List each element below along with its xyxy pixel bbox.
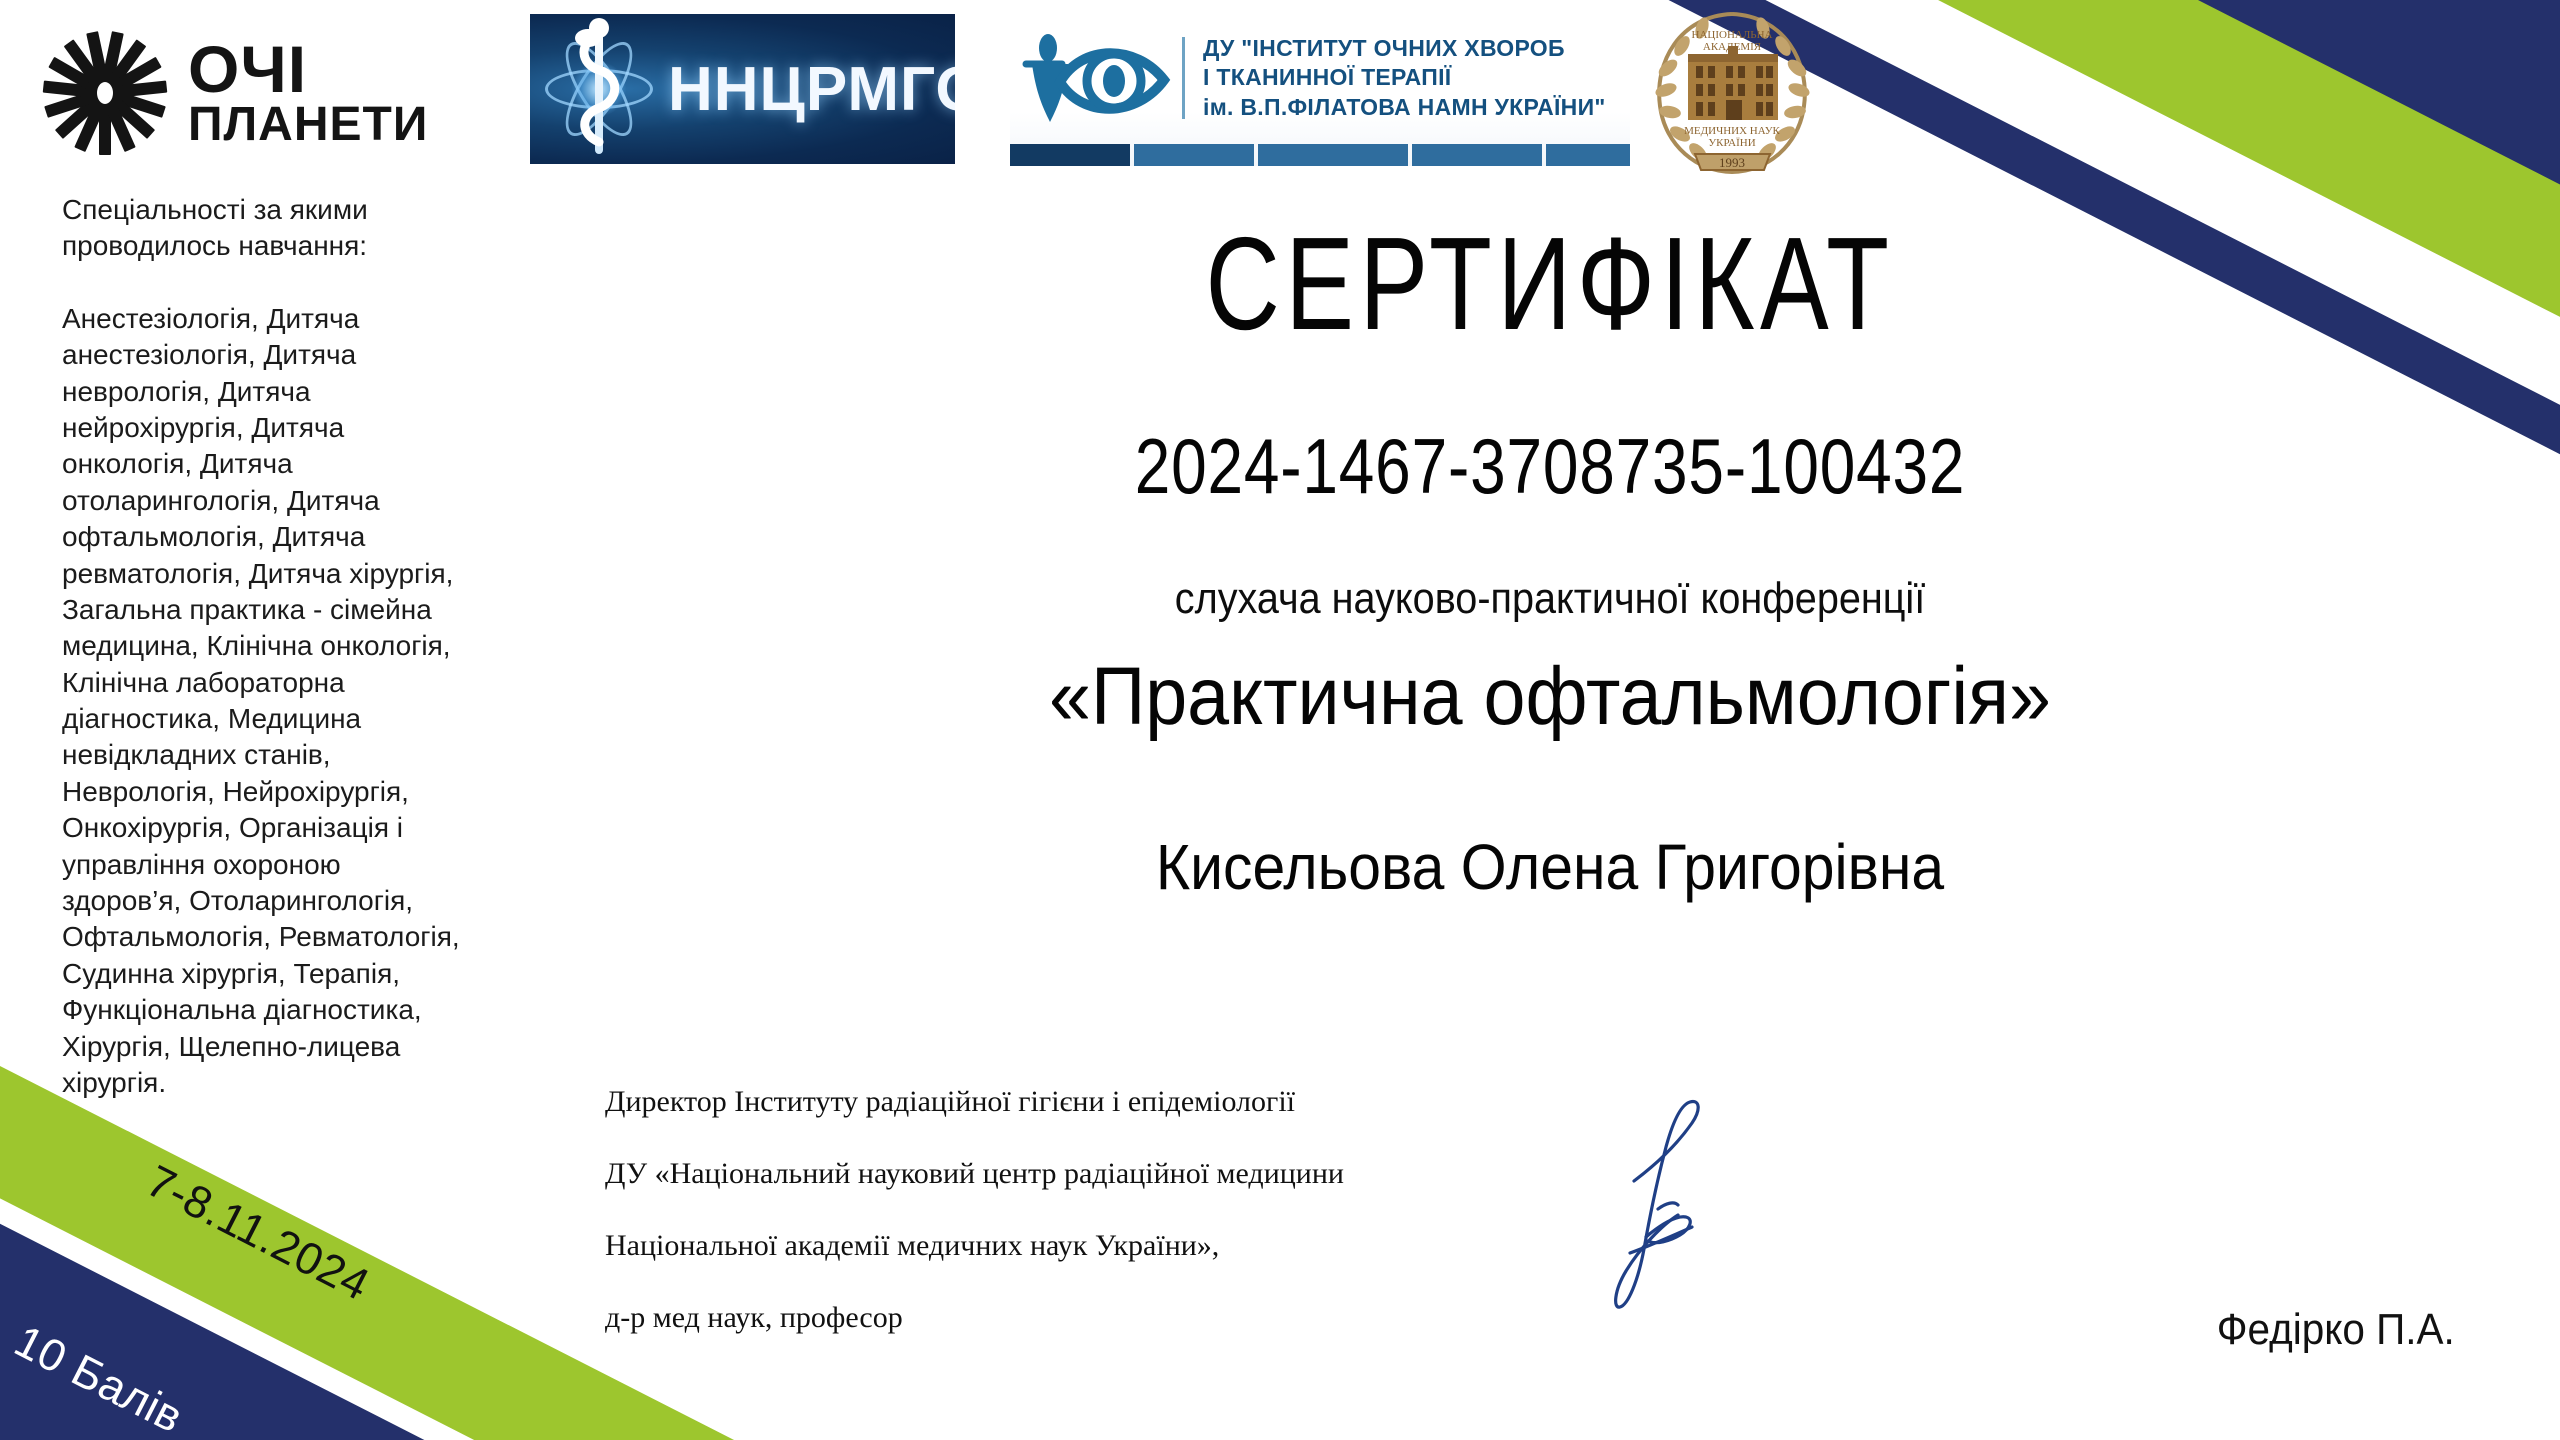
certificate-title: СЕРТИФІКАТ — [825, 208, 2276, 359]
logo-ochi-planety: ОЧІ ПЛАНЕТИ — [40, 8, 500, 178]
eye-icon — [1018, 30, 1178, 126]
certificate-main: СЕРТИФІКАТ 2024-1467-3708735-100432 слух… — [620, 170, 2480, 904]
ochi-line1: ОЧІ — [188, 38, 428, 101]
certificate-page: 7-8.11.2024 10 Балів — [0, 0, 2560, 1440]
logo-filatov-institute: ДУ "ІНСТИТУТ ОЧНИХ ХВОРОБ І ТКАНИННОЇ ТЕ… — [1010, 24, 1630, 166]
svg-text:МЕДИЧНИХ НАУК: МЕДИЧНИХ НАУК — [1684, 125, 1780, 137]
logo-nncrmgo: ННЦРМГО — [530, 14, 955, 164]
sunburst-eye-icon — [40, 28, 170, 158]
signature-block: Директор Інституту радіаційної гігієни і… — [605, 1085, 1605, 1335]
sunburst-center — [86, 71, 124, 115]
signature-line-4: д-р мед наук, професор — [605, 1301, 1605, 1335]
recipient-name: Кисельова Олена Григорівна — [694, 830, 2405, 904]
caduceus-atom-icon — [530, 16, 668, 162]
signer-name: Федірко П.А. — [2217, 1305, 2455, 1355]
specialties-heading: Спеціальності за якими проводилось навча… — [62, 192, 462, 265]
logo-divider — [1182, 37, 1185, 119]
filatov-line1: ДУ "ІНСТИТУТ ОЧНИХ ХВОРОБ — [1203, 34, 1606, 63]
svg-text:АКАДЕМІЯ: АКАДЕМІЯ — [1703, 41, 1762, 53]
svg-text:НАЦІОНАЛЬНА: НАЦІОНАЛЬНА — [1692, 29, 1773, 41]
specialties-panel: Спеціальності за якими проводилось навча… — [62, 192, 462, 1101]
signature-line-1: Директор Інституту радіаційної гігієни і… — [605, 1085, 1605, 1119]
filatov-institute-name: ДУ "ІНСТИТУТ ОЧНИХ ХВОРОБ І ТКАНИННОЇ ТЕ… — [1203, 34, 1606, 122]
signature-line-3: Національної академії медичних наук Укра… — [605, 1229, 1605, 1263]
signature-line-2: ДУ «Національний науковий центр радіацій… — [605, 1157, 1605, 1191]
filatov-line2: І ТКАНИННОЇ ТЕРАПІЇ — [1203, 63, 1606, 92]
svg-text:1993: 1993 — [1719, 155, 1745, 170]
specialties-list: Анестезіологія, Дитяча анестезіологія, Д… — [62, 301, 462, 1102]
conference-name: «Практична офтальмологія» — [694, 650, 2405, 744]
laurel-wreath-crest-icon: НАЦІОНАЛЬНА АКАДЕМІЯ МЕДИЧНИХ НАУК УКРАЇ… — [1640, 6, 1825, 178]
nncrmgo-wordmark: ННЦРМГО — [668, 54, 955, 125]
handwritten-signature — [1600, 1085, 1860, 1335]
filatov-color-bar — [1010, 144, 1630, 166]
ochi-line2: ПЛАНЕТИ — [188, 102, 428, 148]
svg-text:УКРАЇНИ: УКРАЇНИ — [1708, 137, 1755, 149]
certificate-number: 2024-1467-3708735-100432 — [787, 421, 2312, 512]
filatov-line3: ім. В.П.ФІЛАТОВА НАМН УКРАЇНИ" — [1203, 93, 1606, 122]
logo-bar: ОЧІ ПЛАНЕТИ ННЦРМГО — [0, 0, 1860, 190]
certificate-subtitle: слухача науково-практичної конференції — [713, 574, 2387, 624]
ochi-planety-wordmark: ОЧІ ПЛАНЕТИ — [188, 38, 428, 147]
